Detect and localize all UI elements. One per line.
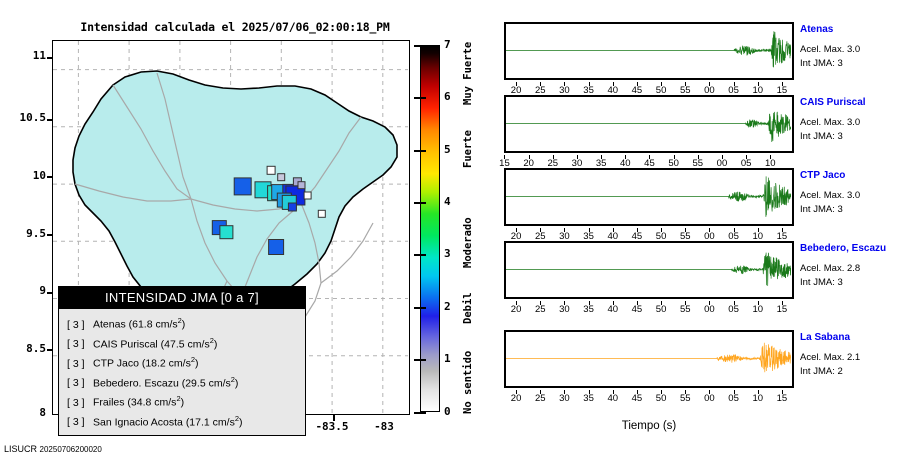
footer-agency: LISUCR xyxy=(4,444,37,454)
colorbar-tick-label: 4 xyxy=(444,195,451,208)
time-tick-label: 40 xyxy=(607,304,618,315)
intensity-legend: INTENSIDAD JMA [0 a 7] [ 3 ]Atenas (61.8… xyxy=(58,286,306,436)
legend-entry-text: San Ignacio Acosta (17.1 cm/s xyxy=(93,416,235,428)
time-tick-label: 20 xyxy=(511,304,522,315)
x-tick-label: -83 xyxy=(359,420,409,433)
legend-entry-close: ) xyxy=(195,358,199,370)
station-marker[interactable] xyxy=(318,210,325,217)
station-name-label: Bebedero, Escazu xyxy=(800,243,886,254)
station-marker[interactable] xyxy=(234,178,251,195)
colorbar-tick-label: 7 xyxy=(444,38,451,51)
waveform-path xyxy=(506,31,791,67)
station-marker[interactable] xyxy=(288,203,296,211)
time-tick-label: 15 xyxy=(777,304,788,315)
waveform-path xyxy=(506,343,791,372)
time-tick-label: 45 xyxy=(632,304,643,315)
legend-entry: [ 3 ]Frailes (34.8 cm/s2) xyxy=(67,391,305,411)
waveform-x-axis-title: Tiempo (s) xyxy=(504,420,794,432)
time-tick-label: 05 xyxy=(728,304,739,315)
time-tick-label: 50 xyxy=(656,393,667,404)
y-tick-label: 9 xyxy=(8,284,46,297)
station-name-label: CTP Jaco xyxy=(800,170,845,181)
colorbar-tick-label: 3 xyxy=(444,247,451,260)
legend-entry-level: [ 3 ] xyxy=(67,357,93,372)
time-tick-label: 15 xyxy=(777,393,788,404)
waveform-trace xyxy=(506,170,791,223)
waveform-time-axis: 202530354045505500051015 xyxy=(504,390,794,406)
waveform-panel[interactable] xyxy=(504,22,794,80)
waveform-path xyxy=(506,112,791,142)
legend-entry: [ 3 ]CTP Jaco (18.2 cm/s2) xyxy=(67,352,305,372)
legend-entry-level: [ 3 ] xyxy=(67,415,93,430)
time-tick-label: 00 xyxy=(704,304,715,315)
legend-entry: [ 3 ]CAIS Puriscal (47.5 cm/s2) xyxy=(67,333,305,353)
legend-entry: [ 3 ]Atenas (61.8 cm/s2) xyxy=(67,313,305,333)
colorbar-category: Moderado xyxy=(462,217,474,268)
waveform-panel[interactable] xyxy=(504,330,794,388)
time-tick-label: 25 xyxy=(535,304,546,315)
legend-entry-text: Bebedero. Escazu (29.5 cm/s xyxy=(93,377,231,389)
station-jma-intensity: Int JMA: 2 xyxy=(800,366,843,377)
legend-entry-close: ) xyxy=(182,319,186,331)
colorbar-tick-label: 6 xyxy=(444,90,451,103)
time-tick-label: 30 xyxy=(559,304,570,315)
legend-entry-text: CAIS Puriscal (47.5 cm/s xyxy=(93,338,210,350)
station-marker[interactable] xyxy=(304,192,311,199)
time-tick-label: 40 xyxy=(607,393,618,404)
waveform-trace xyxy=(506,332,791,385)
station-max-accel: Acel. Max. 2.1 xyxy=(800,352,860,363)
colorbar-category: Muy Fuerte xyxy=(462,42,474,105)
colorbar-tick-label: 0 xyxy=(444,405,451,418)
station-jma-intensity: Int JMA: 3 xyxy=(800,277,843,288)
legend-entry-level: [ 3 ] xyxy=(67,396,93,411)
time-tick-label: 50 xyxy=(656,304,667,315)
station-jma-intensity: Int JMA: 3 xyxy=(800,204,843,215)
colorbar-tick-label: 2 xyxy=(444,300,451,313)
map-title: Intensidad calculada el 2025/07/06_02:00… xyxy=(60,20,410,34)
colorbar-category: Fuerte xyxy=(462,130,474,168)
legend-entry: [ 3 ]San Ignacio Acosta (17.1 cm/s2) xyxy=(67,411,305,431)
waveform-panel[interactable] xyxy=(504,95,794,153)
time-tick-label: 55 xyxy=(680,304,691,315)
time-tick-label: 20 xyxy=(511,393,522,404)
station-marker[interactable] xyxy=(269,240,284,255)
waveform-path xyxy=(506,253,791,286)
waveform-trace xyxy=(506,243,791,296)
y-tick-label: 8.5 xyxy=(0,342,46,355)
time-tick-label: 10 xyxy=(752,393,763,404)
waveform-trace xyxy=(506,97,791,150)
time-tick-label: 00 xyxy=(704,393,715,404)
y-tick-label: 9.5 xyxy=(0,227,46,240)
legend-title: INTENSIDAD JMA [0 a 7] xyxy=(59,287,305,309)
station-max-accel: Acel. Max. 3.0 xyxy=(800,190,860,201)
footer-event-code: 20250706200020 xyxy=(40,445,102,454)
waveform-path xyxy=(506,176,791,217)
legend-entry: [ 3 ]Bebedero. Escazu (29.5 cm/s2) xyxy=(67,372,305,392)
legend-entry-text: CTP Jaco (18.2 cm/s xyxy=(93,358,191,370)
legend-entry-level: [ 3 ] xyxy=(67,337,93,352)
waveform-time-axis: 202530354045505500051015 xyxy=(504,301,794,317)
legend-entry-close: ) xyxy=(214,338,218,350)
legend-entry-level: [ 3 ] xyxy=(67,318,93,333)
station-name-label: CAIS Puriscal xyxy=(800,97,866,108)
time-tick-label: 30 xyxy=(559,393,570,404)
colorbar-category: Debil xyxy=(462,292,474,324)
time-tick-label: 45 xyxy=(632,393,643,404)
waveform-panel[interactable] xyxy=(504,168,794,226)
station-max-accel: Acel. Max. 2.8 xyxy=(800,263,860,274)
time-tick-label: 10 xyxy=(752,304,763,315)
x-tick-label: -83.5 xyxy=(307,420,357,433)
station-max-accel: Acel. Max. 3.0 xyxy=(800,117,860,128)
colorbar-tick-label: 5 xyxy=(444,143,451,156)
legend-entry-level: [ 3 ] xyxy=(67,376,93,391)
legend-entry-close: ) xyxy=(235,377,239,389)
station-marker[interactable] xyxy=(298,182,305,189)
station-marker[interactable] xyxy=(267,166,275,174)
time-tick-label: 25 xyxy=(535,393,546,404)
y-tick-label: 11 xyxy=(8,49,46,62)
waveform-trace xyxy=(506,24,791,77)
intensity-colorbar xyxy=(420,45,440,412)
station-marker[interactable] xyxy=(220,226,233,239)
legend-entry-text: Atenas (61.8 cm/s xyxy=(93,319,178,331)
legend-entry-text: Frailes (34.8 cm/s xyxy=(93,397,176,409)
footer: LISUCR 20250706200020 xyxy=(4,444,102,454)
y-tick-label: 10 xyxy=(8,169,46,182)
colorbar-category: No sentido xyxy=(462,351,474,414)
colorbar-tick-label: 1 xyxy=(444,352,451,365)
seismic-intensity-report: Intensidad calculada el 2025/07/06_02:00… xyxy=(0,0,910,460)
time-tick-label: 55 xyxy=(680,393,691,404)
station-jma-intensity: Int JMA: 3 xyxy=(800,131,843,142)
legend-entries: [ 3 ]Atenas (61.8 cm/s2)[ 3 ]CAIS Purisc… xyxy=(59,309,305,435)
station-jma-intensity: Int JMA: 3 xyxy=(800,58,843,69)
y-tick-label: 10.5 xyxy=(0,111,46,124)
time-tick-label: 35 xyxy=(583,393,594,404)
station-name-label: La Sabana xyxy=(800,332,850,343)
time-tick-label: 35 xyxy=(583,304,594,315)
station-max-accel: Acel. Max. 3.0 xyxy=(800,44,860,55)
time-tick-label: 05 xyxy=(728,393,739,404)
waveform-panel[interactable] xyxy=(504,241,794,299)
legend-entry-close: ) xyxy=(181,397,185,409)
y-tick-label: 8 xyxy=(8,406,46,419)
station-marker[interactable] xyxy=(278,174,285,181)
legend-entry-close: ) xyxy=(239,416,243,428)
station-name-label: Atenas xyxy=(800,24,833,35)
